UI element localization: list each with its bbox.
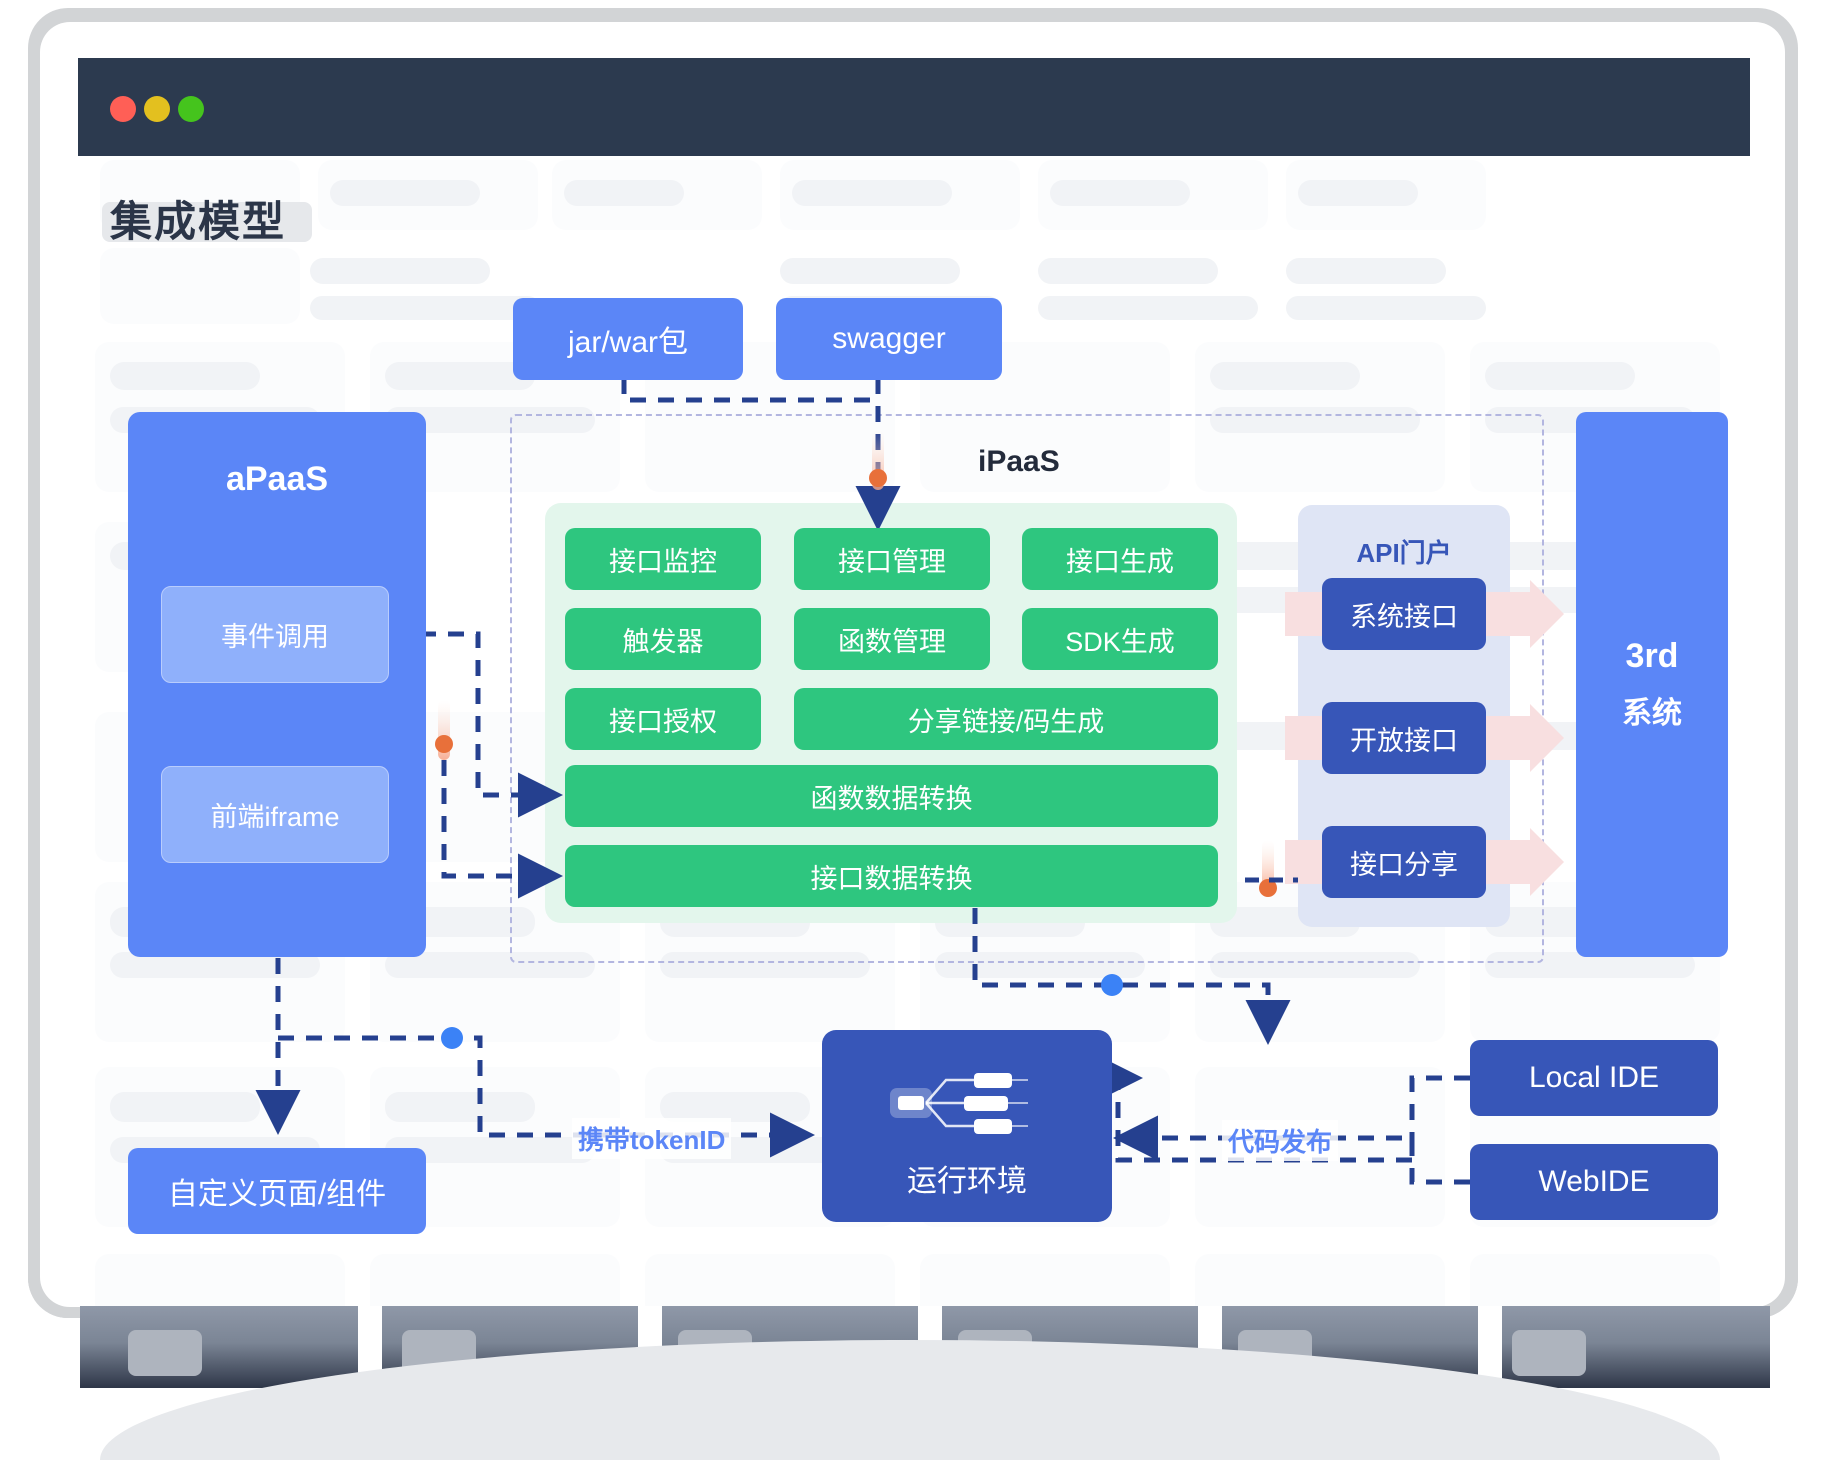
edge-label-token-id: 携带tokenID xyxy=(572,1118,731,1159)
ipaas-bar-function-data-transform[interactable]: 函数数据转换 xyxy=(565,765,1218,827)
gateway-tile-api-share[interactable]: 接口分享 xyxy=(1322,826,1486,898)
runtime-environment-label: 运行环境 xyxy=(907,1156,1027,1200)
custom-page-component-box[interactable]: 自定义页面/组件 xyxy=(128,1148,426,1234)
third-party-system[interactable]: 3rd 系统 xyxy=(1576,412,1728,957)
ipaas-tile-api-auth[interactable]: 接口授权 xyxy=(565,688,761,750)
gateway-tile-open-api[interactable]: 开放接口 xyxy=(1322,702,1486,774)
ipaas-tile-function-manage[interactable]: 函数管理 xyxy=(794,608,990,670)
ide-box-local-ide[interactable]: Local IDE xyxy=(1470,1040,1718,1116)
laptop-device-frame: 集成模型 iPaaS API门户 xyxy=(0,0,1830,1397)
ipaas-tile-share-link[interactable]: 分享链接/码生成 xyxy=(794,688,1218,750)
ipaas-tile-api-manage[interactable]: 接口管理 xyxy=(794,528,990,590)
apaas-title: aPaaS xyxy=(128,460,426,499)
edge-label-code-deploy: 代码发布 xyxy=(1222,1120,1338,1161)
third-party-line-2: 系统 xyxy=(1622,688,1682,732)
ipaas-tile-api-generate[interactable]: 接口生成 xyxy=(1022,528,1218,590)
gateway-flow-arrowhead-1 xyxy=(1530,580,1564,648)
gateway-tile-system-api[interactable]: 系统接口 xyxy=(1322,578,1486,650)
gateway-flow-arrowhead-2 xyxy=(1530,704,1564,772)
api-gateway-title: API门户 xyxy=(1298,533,1510,570)
ide-box-web-ide[interactable]: WebIDE xyxy=(1470,1144,1718,1220)
third-party-line-1: 3rd xyxy=(1626,637,1679,676)
source-box-swagger[interactable]: swagger xyxy=(776,298,1002,380)
flow-dot-api-transform xyxy=(1101,974,1123,996)
flow-dot-custom-page xyxy=(441,1027,463,1049)
ipaas-tile-sdk-generate[interactable]: SDK生成 xyxy=(1022,608,1218,670)
source-box-jar-war[interactable]: jar/war包 xyxy=(513,298,743,380)
apaas-item-front-iframe[interactable]: 前端iframe xyxy=(161,766,389,863)
ipaas-title: iPaaS xyxy=(978,445,1060,479)
apaas-container: aPaaS xyxy=(128,412,426,957)
ipaas-tile-trigger[interactable]: 触发器 xyxy=(565,608,761,670)
ipaas-bar-api-data-transform[interactable]: 接口数据转换 xyxy=(565,845,1218,907)
apaas-item-event-invoke[interactable]: 事件调用 xyxy=(161,586,389,683)
runtime-node-tree-icon xyxy=(880,1058,1060,1148)
ipaas-tile-api-monitor[interactable]: 接口监控 xyxy=(565,528,761,590)
flow-dot-event xyxy=(435,735,453,753)
integration-model-diagram: iPaaS API门户 xyxy=(0,0,1830,1397)
gateway-flow-arrowhead-3 xyxy=(1530,828,1564,896)
